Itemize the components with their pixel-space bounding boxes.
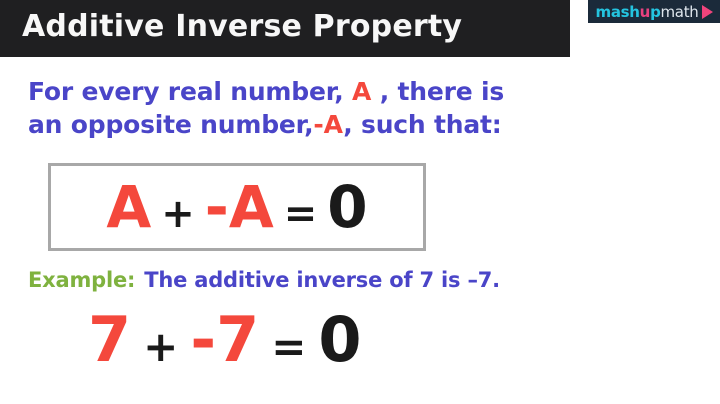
brand-logo[interactable]: mashupmath [588, 0, 720, 23]
example-label: Example: [28, 268, 135, 292]
example-term-2: -7 [190, 303, 259, 376]
statement-line2-part2: , such that: [343, 110, 501, 139]
brand-logo-math: math [661, 3, 699, 21]
play-triangle-icon [702, 5, 713, 19]
statement-variable-a: A [352, 77, 371, 106]
example-text: The additive inverse of 7 is –7. [144, 268, 500, 292]
example-line: Example:The additive inverse of 7 is –7. [28, 268, 500, 292]
example-term-1: 7 [88, 303, 131, 376]
statement-line1-part1: For every real number, [28, 77, 344, 106]
brand-logo-p: p [650, 3, 660, 21]
formula-term-2: -A [205, 173, 274, 241]
formula-operator-equals: = [274, 191, 328, 237]
formula-expression: A + -A = 0 [106, 173, 367, 241]
formula-operator-plus: + [151, 191, 205, 237]
formula-box: A + -A = 0 [48, 163, 426, 251]
page-title: Additive Inverse Property [22, 9, 462, 44]
example-operator-plus: + [131, 322, 190, 371]
formula-term-1: A [106, 173, 151, 241]
brand-logo-u: u [640, 3, 650, 21]
statement-line1-part2: , there is [380, 77, 504, 106]
statement-line2-part1: an opposite number, [28, 110, 313, 139]
brand-logo-mash: mash [596, 3, 640, 21]
statement-variable-neg-a: -A [313, 110, 343, 139]
example-result: 0 [318, 303, 361, 376]
example-equation: 7 + -7 = 0 [88, 303, 362, 376]
formula-result: 0 [327, 173, 367, 241]
property-statement: For every real number, A , there is an o… [28, 76, 528, 142]
example-operator-equals: = [259, 322, 318, 371]
